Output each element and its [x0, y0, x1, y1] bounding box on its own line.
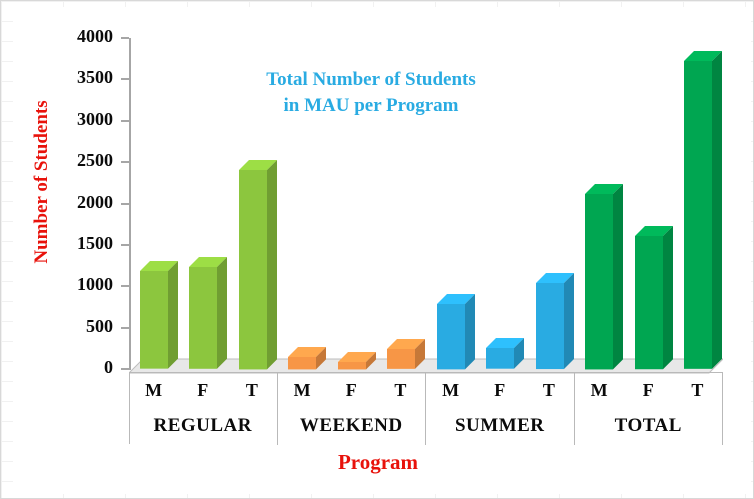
category-subrow: MFT: [129, 373, 277, 407]
category-tick-label: T: [673, 380, 722, 401]
bar-shape: [288, 347, 328, 371]
category-axis: MFTREGULARMFTWEEKENDMFTSUMMERMFTTOTAL: [129, 372, 723, 445]
bar-regular-m[interactable]: [140, 271, 168, 369]
category-tick-label: M: [426, 380, 475, 401]
category-tick-label: F: [178, 380, 227, 401]
category-tick-label: F: [327, 380, 376, 401]
category-group-weekend: MFTWEEKEND: [278, 373, 427, 445]
bar-shape: [684, 51, 724, 371]
category-group-summer: MFTSUMMER: [426, 373, 575, 445]
bar-summer-t[interactable]: [536, 283, 564, 369]
bar-total-t[interactable]: [684, 61, 712, 369]
category-tick-label: M: [129, 380, 178, 401]
category-tick-label: T: [227, 380, 276, 401]
bar-regular-f[interactable]: [189, 267, 217, 369]
bar-shape: [140, 261, 180, 371]
bar-total-f[interactable]: [635, 236, 663, 369]
bar-shape: [486, 338, 526, 371]
category-group-total: MFTTOTAL: [575, 373, 724, 445]
bar-shape: [635, 226, 675, 371]
bar-weekend-f[interactable]: [338, 362, 366, 369]
category-tick-label: T: [376, 380, 425, 401]
category-subrow: MFT: [426, 373, 574, 407]
category-group-regular: MFTREGULAR: [129, 373, 278, 445]
bar-weekend-t[interactable]: [387, 349, 415, 369]
bar-summer-f[interactable]: [486, 348, 514, 369]
category-subrow: MFT: [575, 373, 723, 407]
category-tick-label: F: [624, 380, 673, 401]
bar-weekend-m[interactable]: [288, 357, 316, 369]
category-tick-label: M: [575, 380, 624, 401]
category-tick-label: F: [475, 380, 524, 401]
category-group-label: WEEKEND: [278, 407, 426, 445]
bar-shape: [536, 273, 576, 371]
category-tick-label: T: [524, 380, 573, 401]
category-tick-label: M: [278, 380, 327, 401]
bar-shape: [338, 352, 378, 371]
bar-summer-m[interactable]: [437, 304, 465, 369]
category-subrow: MFT: [278, 373, 426, 407]
category-group-label: SUMMER: [426, 407, 574, 445]
bar-shape: [387, 339, 427, 371]
category-group-label: REGULAR: [129, 407, 277, 445]
bar-total-m[interactable]: [585, 194, 613, 369]
bar-shape: [437, 294, 477, 371]
bar-shape: [239, 160, 279, 371]
category-group-label: TOTAL: [575, 407, 723, 445]
bar-shape: [585, 184, 625, 371]
bar-regular-t[interactable]: [239, 170, 267, 369]
bar-shape: [189, 257, 229, 371]
chart-canvas: Total Number of Students in MAU per Prog…: [0, 0, 754, 499]
